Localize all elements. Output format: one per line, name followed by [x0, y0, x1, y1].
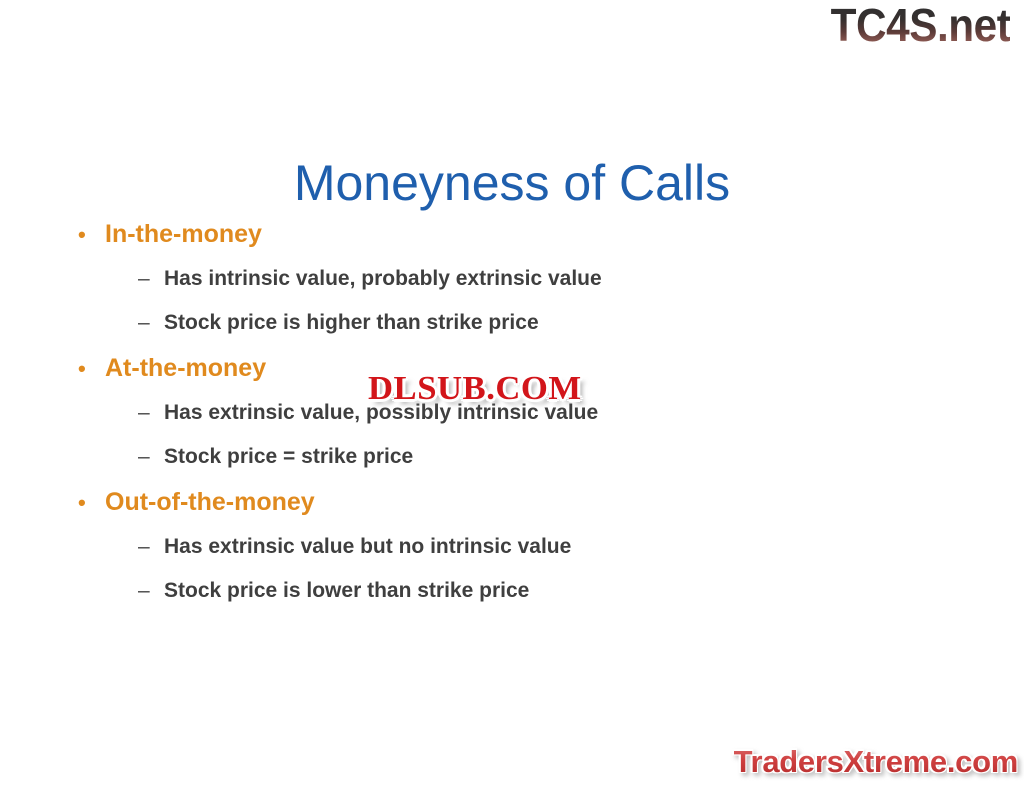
- slide-canvas: TC4S.net Moneyness of Calls • In-the-mon…: [0, 0, 1024, 791]
- bullet-heading-row: • In-the-money: [78, 222, 908, 268]
- en-dash-icon: –: [138, 446, 164, 467]
- bullet-dot-icon: •: [78, 224, 105, 246]
- bullet-group: • Out-of-the-money – Has extrinsic value…: [78, 490, 908, 624]
- sub-bullet-item: – Has extrinsic value but no intrinsic v…: [78, 536, 908, 580]
- bullet-heading-out-of-the-money: • Out-of-the-money: [78, 490, 315, 536]
- page-title: Moneyness of Calls: [0, 156, 1024, 211]
- sub-bullet-label: Has extrinsic value but no intrinsic val…: [164, 536, 571, 557]
- bullet-heading-label: Out-of-the-money: [105, 490, 315, 515]
- bullet-heading-in-the-money: • In-the-money: [78, 222, 262, 268]
- en-dash-icon: –: [138, 268, 164, 289]
- sub-bullet-item: – Stock price is lower than strike price: [78, 580, 908, 624]
- en-dash-icon: –: [138, 536, 164, 557]
- sub-bullet-item: – Stock price is higher than strike pric…: [78, 312, 908, 356]
- en-dash-icon: –: [138, 402, 164, 423]
- sub-bullet-label: Has intrinsic value, probably extrinsic …: [164, 268, 602, 289]
- bullet-dot-icon: •: [78, 492, 105, 514]
- sub-bullet-label: Stock price is higher than strike price: [164, 312, 539, 333]
- bullet-group: • In-the-money – Has intrinsic value, pr…: [78, 222, 908, 356]
- en-dash-icon: –: [138, 312, 164, 333]
- bullet-heading-at-the-money: • At-the-money: [78, 356, 266, 402]
- bullet-heading-label: In-the-money: [105, 222, 262, 247]
- bullet-heading-row: • Out-of-the-money: [78, 490, 908, 536]
- sub-bullet-item: – Has intrinsic value, probably extrinsi…: [78, 268, 908, 312]
- sub-bullet-label: Stock price is lower than strike price: [164, 580, 529, 601]
- sub-bullet-item: – Stock price = strike price: [78, 446, 908, 490]
- sub-bullet-label: Stock price = strike price: [164, 446, 413, 467]
- tc4s-site-logo: TC4S.net: [830, 2, 1010, 48]
- dlsub-watermark: DLSUB.COM: [368, 371, 582, 407]
- bullet-list: • In-the-money – Has intrinsic value, pr…: [78, 222, 908, 624]
- tradersxtreme-watermark: TradersXtreme.com: [734, 745, 1018, 779]
- en-dash-icon: –: [138, 580, 164, 601]
- bullet-heading-label: At-the-money: [105, 356, 266, 381]
- bullet-dot-icon: •: [78, 358, 105, 380]
- sub-bullet-item: – Has extrinsic value, possibly intrinsi…: [78, 402, 908, 446]
